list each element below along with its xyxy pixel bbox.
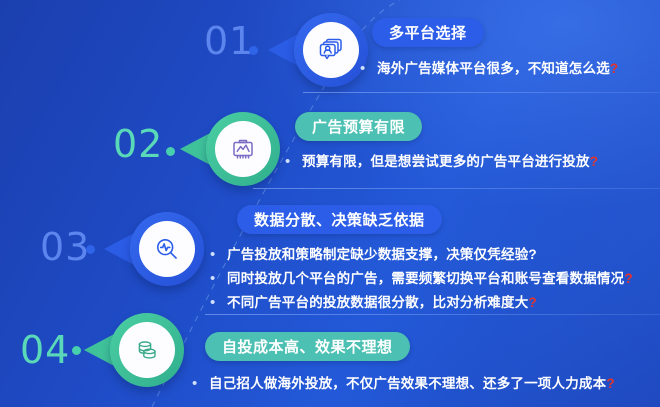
bullet-item: • 同时投放几个平台的广告，需要频繁切换平台和账号查看数据情况?: [210, 270, 633, 288]
infographic-canvas: 01 多平台选择 • 海外广告媒体平台很多，不知道怎么选?: [0, 0, 660, 407]
step-marker-03[interactable]: [130, 212, 204, 286]
step-title-badge-02[interactable]: 广告预算有限: [295, 112, 422, 141]
coins-stack-icon: [119, 322, 175, 378]
step-bullets-02: • 预算有限，但是想尝试更多的广告平台进行投放?: [285, 153, 598, 171]
analytics-search-icon: [139, 221, 195, 277]
step-dot-03: [86, 245, 95, 254]
question-mark: ?: [528, 295, 536, 310]
step-bullets-01: • 海外广告媒体平台很多，不知道怎么选?: [360, 60, 618, 78]
bullet-item: • 广告投放和策略制定缺少数据支撑，决策仅凭经验?: [210, 246, 633, 264]
bullet-marker-icon: •: [210, 246, 227, 264]
section-separator-3: [205, 314, 660, 315]
bullet-marker-icon: •: [285, 153, 302, 171]
question-mark: ?: [610, 61, 618, 76]
bullet-text: 海外广告媒体平台很多，不知道怎么选?: [377, 60, 618, 78]
bullet-item: • 自己招人做海外投放，不仅广告效果不理想、还多了一项人力成本?: [192, 375, 615, 393]
bullet-item: • 不同广告平台的投放数据很分散，比对分析难度大?: [210, 294, 633, 312]
bullet-marker-icon: •: [210, 270, 227, 288]
bullet-marker-icon: •: [360, 60, 377, 78]
bullet-text: 不同广告平台的投放数据很分散，比对分析难度大?: [227, 294, 537, 312]
step-title-badge-01[interactable]: 多平台选择: [372, 18, 484, 47]
step-marker-02[interactable]: [206, 112, 280, 186]
step-dot-02: [166, 147, 175, 156]
step-marker-04[interactable]: [110, 313, 184, 387]
step-dot-04: [72, 346, 81, 355]
step-title-badge-04[interactable]: 自投成本高、效果不理想: [205, 332, 410, 361]
bullet-item: • 海外广告媒体平台很多，不知道怎么选?: [360, 60, 618, 78]
step-bullets-04: • 自己招人做海外投放，不仅广告效果不理想、还多了一项人力成本?: [192, 375, 615, 393]
step-marker-01[interactable]: [294, 13, 368, 87]
step-number-03: 03: [40, 228, 90, 266]
profile-cards-icon: [303, 22, 359, 78]
bullet-text: 预算有限，但是想尝试更多的广告平台进行投放?: [302, 153, 598, 171]
section-separator-1: [303, 92, 660, 93]
section-separator-2: [253, 188, 660, 189]
question-mark: ?: [606, 376, 614, 391]
step-number-04: 04: [20, 331, 70, 369]
question-mark: ?: [590, 154, 598, 169]
bullet-text: 广告投放和策略制定缺少数据支撑，决策仅凭经验?: [227, 246, 537, 264]
step-number-02: 02: [113, 125, 163, 163]
bullet-marker-icon: •: [210, 294, 227, 312]
step-number-01: 01: [204, 22, 254, 60]
bullet-item: • 预算有限，但是想尝试更多的广告平台进行投放?: [285, 153, 598, 171]
bullet-text: 同时投放几个平台的广告，需要频繁切换平台和账号查看数据情况?: [227, 270, 633, 288]
step-dot-01: [249, 46, 258, 55]
step-bullets-03: • 广告投放和策略制定缺少数据支撑，决策仅凭经验? • 同时投放几个平台的广告，…: [210, 246, 633, 312]
question-mark: ?: [624, 271, 632, 286]
bullet-marker-icon: •: [192, 375, 209, 393]
budget-chart-icon: [215, 121, 271, 177]
bullet-text: 自己招人做海外投放，不仅广告效果不理想、还多了一项人力成本?: [209, 375, 615, 393]
step-title-badge-03[interactable]: 数据分散、决策缺乏依据: [237, 205, 442, 234]
